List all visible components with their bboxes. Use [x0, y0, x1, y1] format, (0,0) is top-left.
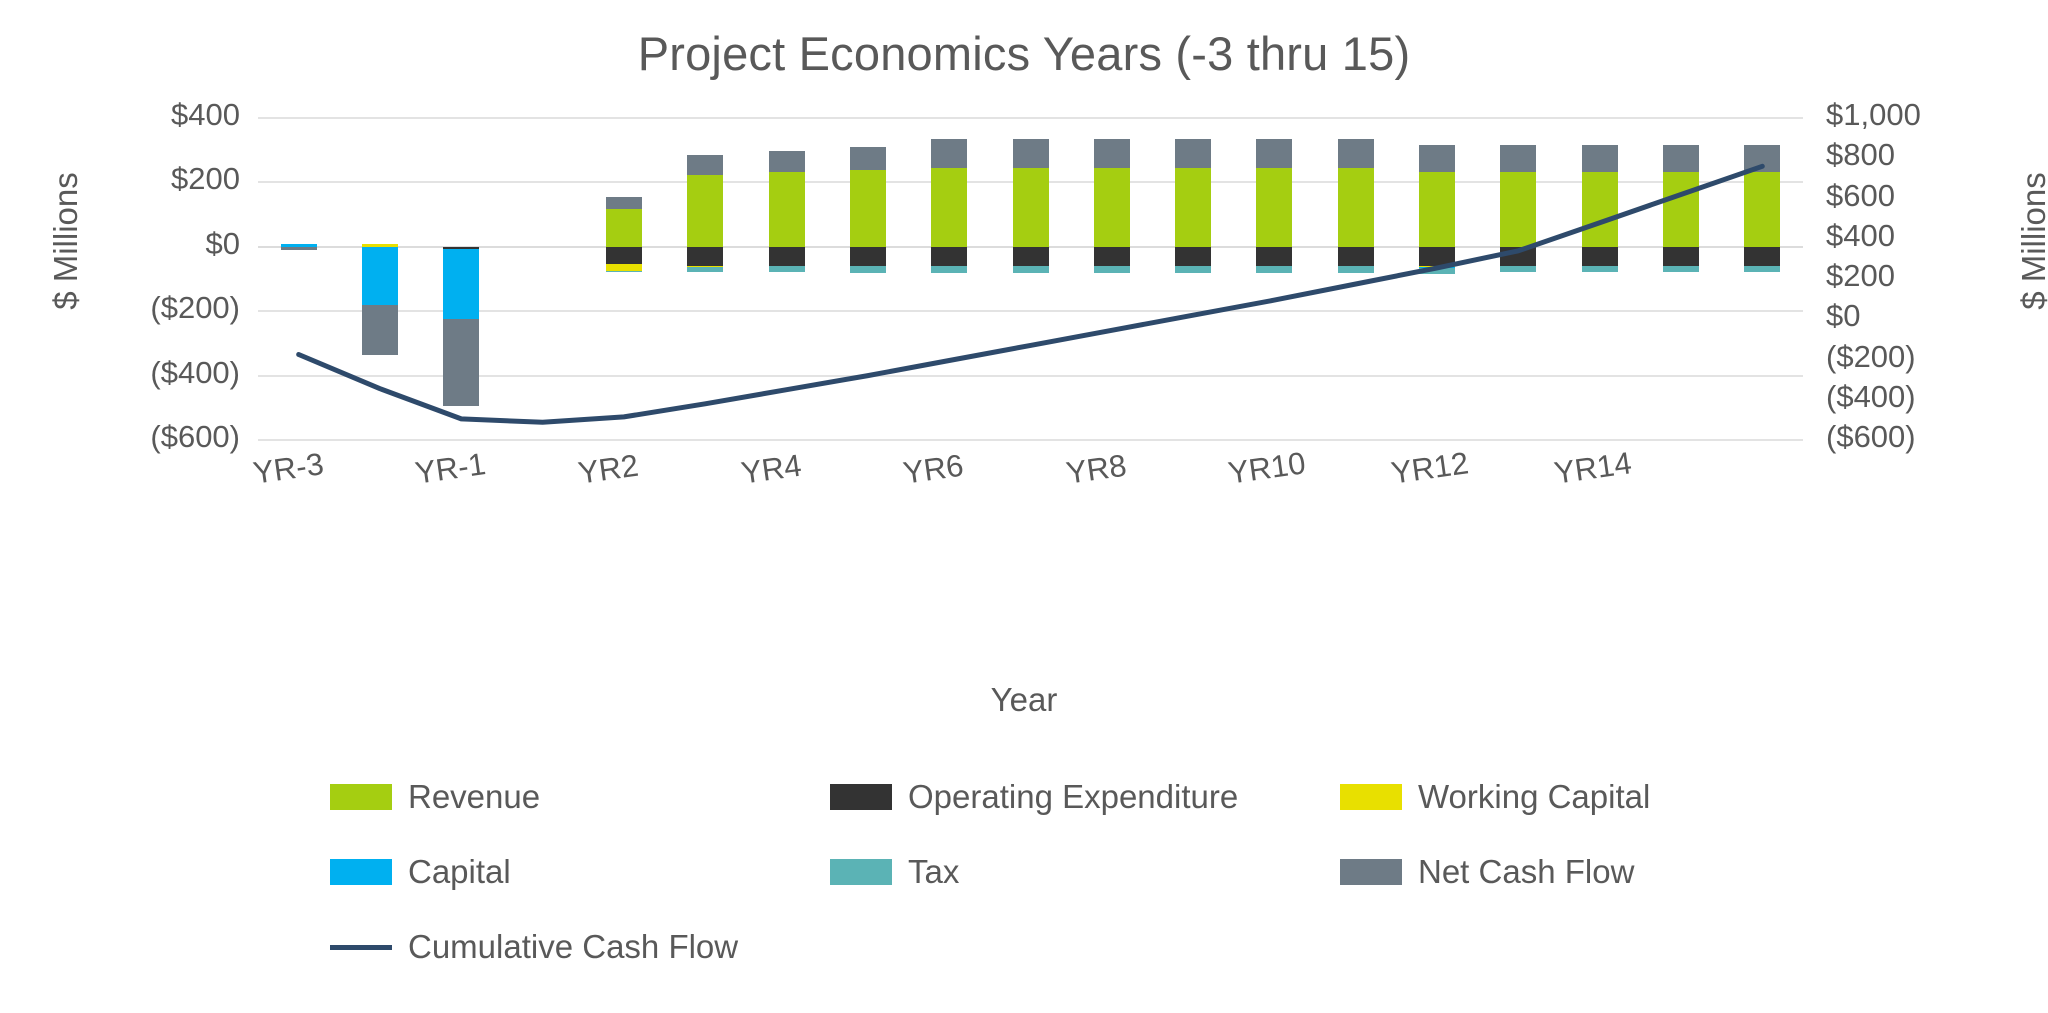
bar-segment: [850, 247, 886, 266]
legend-row: RevenueOperating ExpenditureWorking Capi…: [330, 778, 1730, 853]
left-axis-tick-label: $0: [50, 226, 240, 262]
left-axis-tick-label: $200: [50, 161, 240, 197]
bar-segment: [1500, 172, 1536, 247]
bar-segment: [1419, 172, 1455, 247]
bar-segment: [1175, 266, 1211, 272]
bar-segment: [1500, 145, 1536, 172]
bar-segment: [1582, 247, 1618, 266]
bar-segment: [606, 209, 642, 247]
bar-segment: [1256, 266, 1292, 272]
bar-segment: [1419, 247, 1455, 266]
right-axis-tick-label: ($200): [1826, 339, 2048, 375]
bar-segment: [1338, 266, 1374, 272]
bar-segment: [606, 197, 642, 209]
legend-color-swatch: [1340, 784, 1402, 810]
legend-label: Net Cash Flow: [1418, 853, 1634, 891]
bar-segment: [1094, 266, 1130, 272]
bar-segment: [931, 168, 967, 247]
bar-segment: [362, 247, 398, 306]
bar-segment: [606, 264, 642, 271]
x-axis-tick-label: YR4: [739, 448, 804, 492]
legend-color-swatch: [330, 859, 392, 885]
bar-segment: [1744, 172, 1780, 247]
bar-segment: [1338, 247, 1374, 266]
bar-segment: [1256, 168, 1292, 247]
x-axis-tick-label: YR12: [1389, 445, 1471, 491]
legend-item[interactable]: Cumulative Cash Flow: [330, 928, 738, 966]
bar-segment: [931, 247, 967, 266]
right-axis-tick-label: ($600): [1826, 419, 2048, 455]
x-axis-tick-label: YR6: [901, 448, 966, 492]
x-axis-tick-label: YR14: [1552, 445, 1634, 491]
legend-label: Tax: [908, 853, 959, 891]
bar-segment: [1094, 139, 1130, 168]
bar-segment: [1256, 247, 1292, 266]
x-axis-title: Year: [0, 681, 2048, 719]
legend-color-swatch: [830, 784, 892, 810]
gridline: [258, 375, 1803, 377]
bar-segment: [1663, 247, 1699, 266]
bar-segment: [443, 319, 479, 406]
bar-segment: [606, 247, 642, 264]
left-axis-tick-label: ($400): [50, 355, 240, 391]
chart-title: Project Economics Years (-3 thru 15): [0, 26, 2048, 81]
bar-segment: [1582, 172, 1618, 247]
x-axis-tick-label: YR2: [576, 448, 641, 492]
bar-segment: [850, 266, 886, 272]
x-axis-tick-label: YR-3: [251, 446, 326, 491]
bar-segment: [850, 147, 886, 170]
left-axis-tick-label: $400: [50, 97, 240, 133]
legend-item[interactable]: Capital: [330, 853, 511, 891]
bar-segment: [1663, 145, 1699, 172]
legend-row: CapitalTaxNet Cash Flow: [330, 853, 1730, 928]
bar-segment: [1744, 247, 1780, 266]
bar-segment: [1663, 266, 1699, 272]
bar-segment: [1175, 139, 1211, 168]
right-axis-tick-label: $200: [1826, 258, 2048, 294]
bar-segment: [1094, 247, 1130, 266]
legend-label: Revenue: [408, 778, 540, 816]
legend-line-swatch: [330, 945, 392, 950]
right-axis-tick-label: $600: [1826, 178, 2048, 214]
plot-area: [258, 118, 1803, 440]
right-axis-tick-label: $800: [1826, 137, 2048, 173]
legend-row: Cumulative Cash Flow: [330, 928, 1730, 1003]
legend-item[interactable]: Working Capital: [1340, 778, 1650, 816]
gridline: [258, 439, 1803, 441]
right-axis-tick-label: $1,000: [1826, 97, 2048, 133]
left-axis-tick-label: ($600): [50, 419, 240, 455]
bar-segment: [687, 267, 723, 272]
bar-segment: [1175, 168, 1211, 247]
bar-segment: [687, 175, 723, 246]
bar-segment: [1338, 168, 1374, 247]
bar-segment: [1013, 247, 1049, 266]
legend-label: Working Capital: [1418, 778, 1650, 816]
bar-segment: [769, 172, 805, 247]
chart-legend: RevenueOperating ExpenditureWorking Capi…: [330, 778, 1730, 1003]
bar-segment: [443, 249, 479, 320]
bar-segment: [769, 266, 805, 272]
bar-segment: [687, 247, 723, 266]
legend-label: Cumulative Cash Flow: [408, 928, 738, 966]
legend-item[interactable]: Net Cash Flow: [1340, 853, 1634, 891]
gridline: [258, 117, 1803, 119]
legend-label: Operating Expenditure: [908, 778, 1238, 816]
bar-segment: [687, 155, 723, 175]
bar-segment: [1175, 247, 1211, 266]
gridline: [258, 310, 1803, 312]
bar-segment: [1013, 168, 1049, 247]
right-axis-tick-label: ($400): [1826, 379, 2048, 415]
x-axis-tick-label: YR-1: [413, 446, 488, 491]
bar-segment: [362, 305, 398, 355]
bar-segment: [1013, 139, 1049, 168]
bar-segment: [1013, 266, 1049, 272]
bar-segment: [1744, 145, 1780, 172]
bar-segment: [281, 247, 317, 250]
bar-segment: [1582, 145, 1618, 172]
legend-item[interactable]: Tax: [830, 853, 959, 891]
bar-segment: [850, 170, 886, 247]
bar-segment: [1419, 145, 1455, 172]
legend-color-swatch: [830, 859, 892, 885]
bar-segment: [1663, 172, 1699, 247]
bar-segment: [769, 247, 805, 266]
bar-segment: [931, 266, 967, 272]
legend-color-swatch: [330, 784, 392, 810]
bar-segment: [1094, 168, 1130, 247]
right-axis-tick-label: $0: [1826, 298, 2048, 334]
bar-segment: [1500, 266, 1536, 272]
bar-segment: [1338, 139, 1374, 168]
right-axis-tick-label: $400: [1826, 218, 2048, 254]
left-axis-tick-label: ($200): [50, 290, 240, 326]
legend-item[interactable]: Revenue: [330, 778, 540, 816]
legend-item[interactable]: Operating Expenditure: [830, 778, 1238, 816]
bar-segment: [1419, 268, 1455, 274]
bar-segment: [606, 271, 642, 272]
bar-segment: [1582, 266, 1618, 272]
x-axis-tick-label: YR10: [1226, 445, 1308, 491]
x-axis-tick-label: YR8: [1064, 448, 1129, 492]
legend-label: Capital: [408, 853, 511, 891]
chart-canvas: Project Economics Years (-3 thru 15) $ M…: [0, 0, 2048, 1013]
bar-segment: [1256, 139, 1292, 168]
bar-segment: [1744, 266, 1780, 272]
bar-segment: [1500, 247, 1536, 266]
bar-segment: [769, 151, 805, 173]
legend-color-swatch: [1340, 859, 1402, 885]
bar-segment: [931, 139, 967, 168]
